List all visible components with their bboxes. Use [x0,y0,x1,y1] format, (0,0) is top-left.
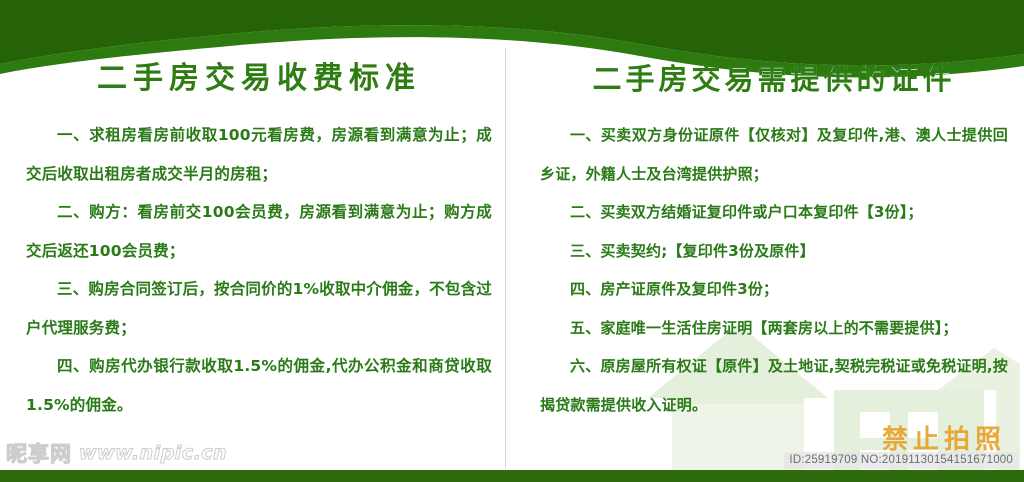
nipic-logo-text: 昵享网 [6,438,72,468]
poster-canvas: 二手房交易收费标准 一、求租房看房前收取100元看房费，房源看到满意为止；成交后… [0,0,1024,482]
list-item: 一、求租房看房前收取100元看房费，房源看到满意为止；成交后收取出租房者成交半月… [26,116,492,193]
no-photo-watermark: 禁止拍照 [882,419,1006,456]
list-item: 二、购方：看房前交100会员费，房源看到满意为止；购方成交后返还100会员费； [26,193,492,270]
content-panels: 二手房交易收费标准 一、求租房看房前收取100元看房费，房源看到满意为止；成交后… [0,62,1024,462]
image-id-watermark: ID:25919709 NO:20191130154151671000 [784,452,1018,469]
panel-required-documents: 二手房交易需提供的证件 一、买卖双方身份证原件【仅核对】及复印件,港、澳人士提供… [512,62,1024,462]
list-item: 四、房产证原件及复印件3份； [540,270,1008,309]
list-item: 三、购房合同签订后，按合同价的1%收取中介佣金，不包含过户代理服务费； [26,270,492,347]
panel-fee-standard: 二手房交易收费标准 一、求租房看房前收取100元看房费，房源看到满意为止；成交后… [0,62,512,462]
nipic-url-text: www.nipic.cn [79,442,227,464]
list-item: 五、家庭唯一生活住房证明【两套房以上的不需要提供】； [540,309,1008,348]
page-title-left: 二手房交易收费标准 [26,62,492,96]
fee-standard-list: 一、求租房看房前收取100元看房费，房源看到满意为止；成交后收取出租房者成交半月… [26,116,492,424]
list-item: 一、买卖双方身份证原件【仅核对】及复印件,港、澳人士提供回乡证，外籍人士及台湾提… [540,116,1008,193]
list-item: 六、原房屋所有权证【原件】及土地证,契税完税证或免税证明,按揭贷款需提供收入证明… [540,347,1008,424]
required-documents-list: 一、买卖双方身份证原件【仅核对】及复印件,港、澳人士提供回乡证，外籍人士及台湾提… [540,116,1008,424]
list-item: 二、买卖双方结婚证复印件或户口本复印件【3份】； [540,193,1008,232]
list-item: 三、买卖契约;【复印件3份及原件】 [540,232,1008,271]
footer-bar [0,470,1024,482]
page-title-right: 二手房交易需提供的证件 [540,62,1008,96]
list-item: 四、购房代办银行款收取1.5%的佣金,代办公积金和商贷收取1.5%的佣金。 [26,347,492,424]
nipic-watermark: 昵享网 www.nipic.cn [6,438,227,468]
